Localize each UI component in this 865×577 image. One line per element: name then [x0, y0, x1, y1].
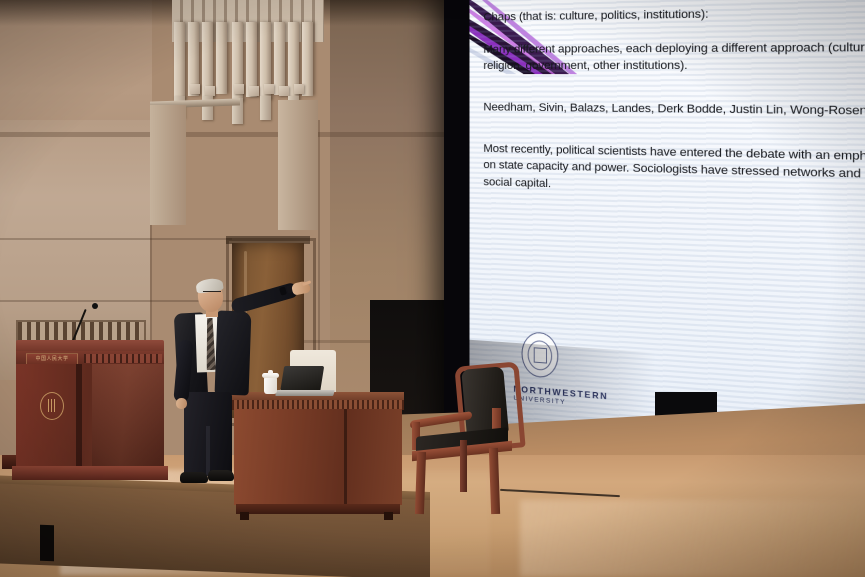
- pointing-hand: [291, 280, 311, 295]
- table-foot-left: [240, 512, 249, 520]
- lectern[interactable]: 中国人民大学: [16, 340, 164, 488]
- university-crest-icon: [40, 392, 64, 420]
- table-foot-right: [384, 512, 393, 520]
- chair-leg-front-left: [415, 452, 426, 514]
- slide-paragraph-3: Needham, Sivin, Balazs, Landes, Derk Bod…: [483, 99, 865, 121]
- slide-paragraph-1: Chaps (that is: culture, politics, insti…: [483, 3, 865, 26]
- stage-floor-slot: [40, 525, 54, 562]
- lectern-plate-text: 中国人民大学: [27, 354, 77, 364]
- slide-paragraph-4: Most recently, political scientists have…: [483, 140, 865, 203]
- hand-lowered: [176, 398, 187, 409]
- northwestern-seal-icon: [522, 331, 559, 379]
- chair-leg-back: [460, 440, 467, 492]
- slide-paragraph-2: Many different approaches, each deployin…: [483, 38, 865, 75]
- presenter: [170, 280, 320, 500]
- wall-seam-1: [0, 238, 232, 240]
- table-legs: [236, 504, 400, 514]
- wall-pillar-right: [278, 100, 318, 230]
- wall-pillar-left: [150, 105, 186, 225]
- floor-reflection-right: [520, 500, 865, 577]
- wooden-armchair[interactable]: [408, 368, 518, 520]
- chair-backrest: [461, 366, 509, 435]
- shoe-left: [180, 472, 208, 483]
- shoe-right: [208, 470, 234, 481]
- lecture-hall-photo: Chaps (that is: culture, politics, insti…: [0, 0, 865, 577]
- lectern-base: [12, 466, 168, 480]
- eyeglasses-icon: [203, 291, 221, 296]
- slide-text-body: Chaps (that is: culture, politics, insti…: [469, 0, 865, 204]
- suit-jacket-right: [215, 310, 252, 395]
- chair-leg-front-right: [489, 448, 500, 514]
- suit-trousers: [184, 392, 232, 476]
- northwestern-wordmark: NORTHWESTERN UNIVERSITY: [513, 383, 608, 409]
- microphone-head-icon: [92, 303, 98, 309]
- lectern-body: [16, 364, 164, 468]
